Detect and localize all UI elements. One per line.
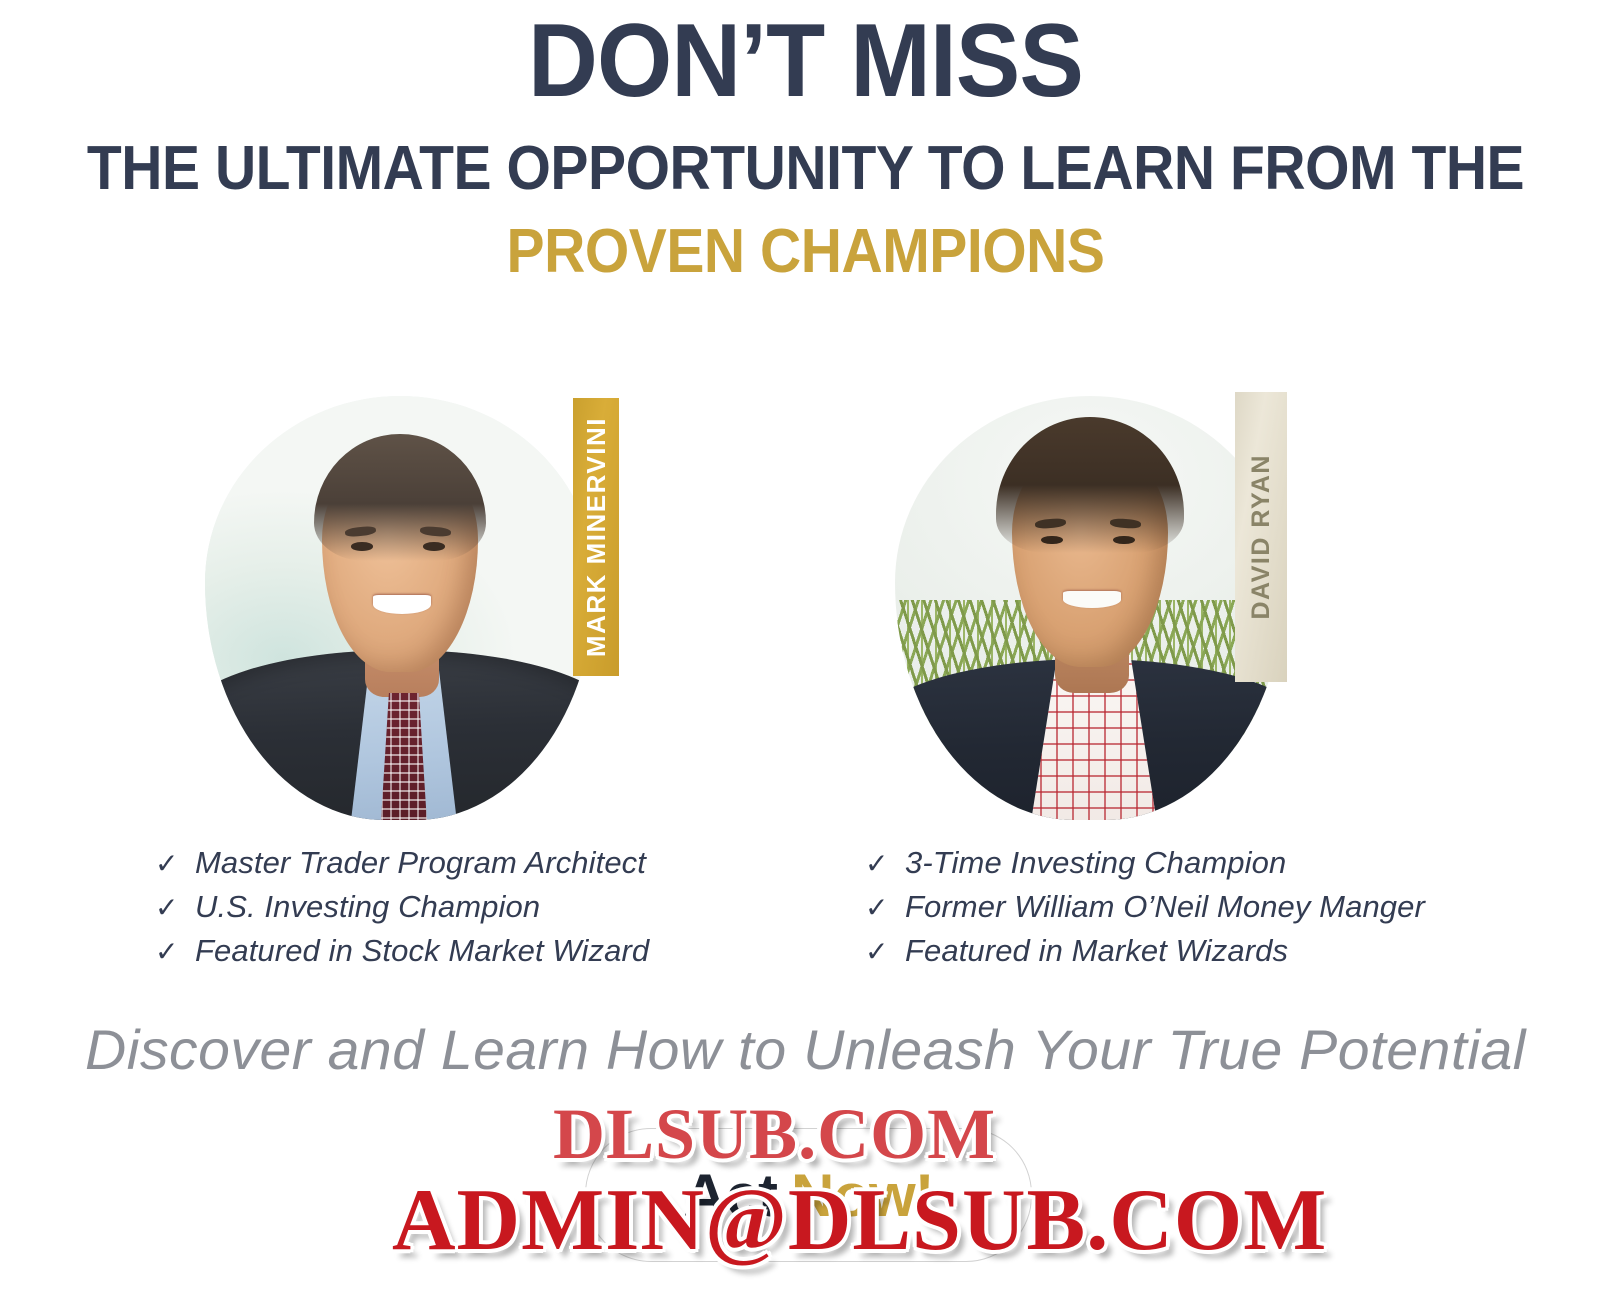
speaker-bullets-david-ryan: ✓ 3-Time Investing Champion ✓ Former Wil…	[865, 845, 1425, 977]
headline-block: DON’T MISS THE ULTIMATE OPPORTUNITY TO L…	[0, 0, 1611, 286]
watermark-site: DLSUB.COM	[553, 1093, 996, 1176]
bullet-label: 3-Time Investing Champion	[905, 845, 1286, 881]
check-icon: ✓	[865, 938, 905, 966]
headline-line-2: THE ULTIMATE OPPORTUNITY TO LEARN FROM T…	[64, 136, 1546, 203]
bullet-item: ✓ Master Trader Program Architect	[155, 845, 649, 889]
mouth-shape	[1063, 591, 1122, 608]
bullet-label: U.S. Investing Champion	[195, 889, 540, 925]
bullet-item: ✓ Featured in Stock Market Wizard	[155, 933, 649, 977]
bullet-label: Featured in Stock Market Wizard	[195, 933, 649, 969]
check-icon: ✓	[155, 894, 195, 922]
speaker-photo-david-ryan	[895, 396, 1285, 820]
speaker-name-label: MARK MINERVINI	[581, 417, 612, 657]
speaker-photo-mark-minervini	[205, 396, 595, 820]
check-icon: ✓	[155, 938, 195, 966]
speaker-name-label: DAVID RYAN	[1247, 454, 1276, 620]
bullet-label: Featured in Market Wizards	[905, 933, 1288, 969]
bullet-item: ✓ U.S. Investing Champion	[155, 889, 649, 933]
headline-line-3: PROVEN CHAMPIONS	[64, 219, 1546, 286]
speaker-name-banner-mark-minervini: MARK MINERVINI	[573, 398, 619, 676]
check-icon: ✓	[155, 850, 195, 878]
tagline: Discover and Learn How to Unleash Your T…	[0, 1017, 1611, 1082]
bullet-item: ✓ Former William O’Neil Money Manger	[865, 889, 1425, 933]
speaker-bullets-mark-minervini: ✓ Master Trader Program Architect ✓ U.S.…	[155, 845, 649, 977]
speaker-card-david-ryan: DAVID RYAN	[880, 388, 1310, 828]
speaker-card-mark-minervini: MARK MINERVINI	[190, 388, 620, 828]
bullet-label: Master Trader Program Architect	[195, 845, 646, 881]
eye-left	[351, 542, 372, 550]
speaker-name-banner-david-ryan: DAVID RYAN	[1235, 392, 1287, 682]
check-icon: ✓	[865, 850, 905, 878]
speakers-row: MARK MINERVINI DAVID RYAN	[0, 388, 1611, 828]
bullet-item: ✓ 3-Time Investing Champion	[865, 845, 1425, 889]
bullet-item: ✓ Featured in Market Wizards	[865, 933, 1425, 977]
check-icon: ✓	[865, 894, 905, 922]
watermark-email: ADMIN@DLSUB.COM	[392, 1170, 1327, 1271]
bullet-label: Former William O’Neil Money Manger	[905, 889, 1425, 925]
headline-line-1: DON’T MISS	[56, 8, 1554, 114]
eye-right	[423, 542, 444, 550]
